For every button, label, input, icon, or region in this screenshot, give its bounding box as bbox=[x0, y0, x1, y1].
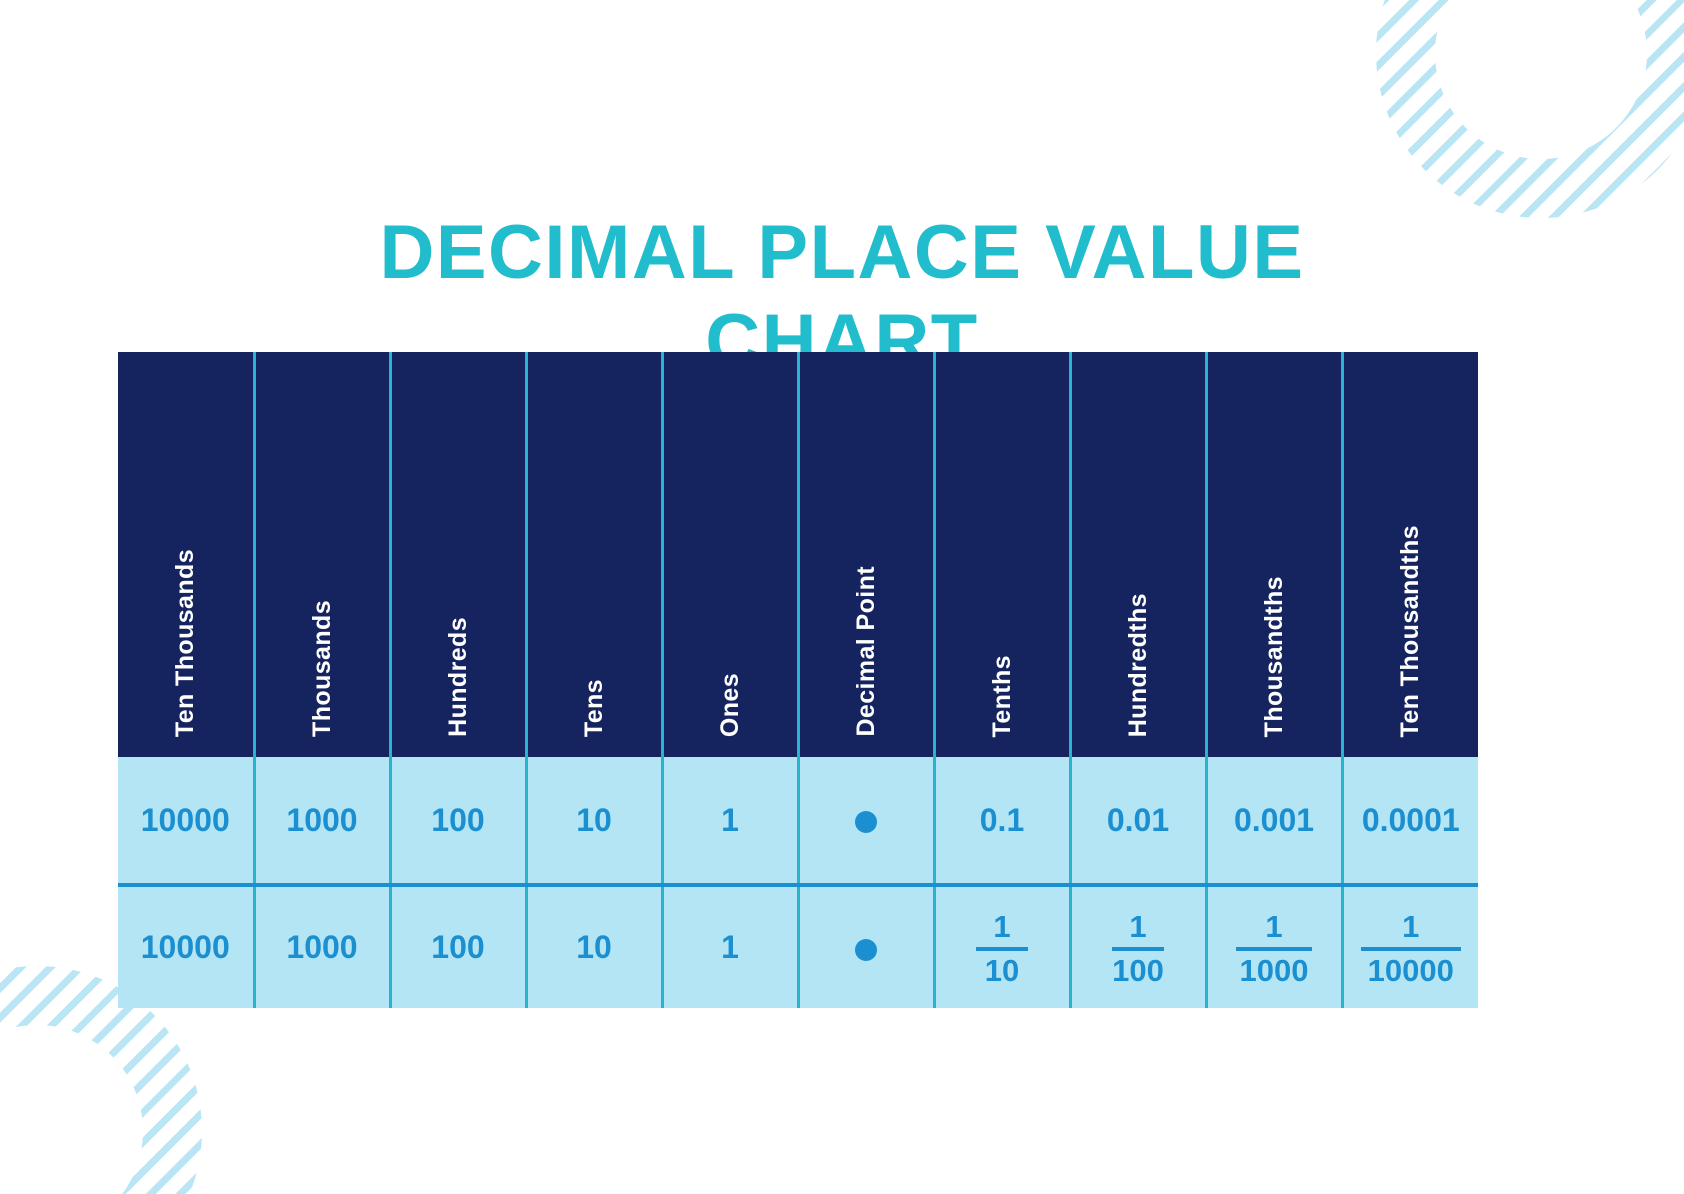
fraction-values-cell-value: 10 bbox=[526, 885, 662, 1008]
column-header-hundredths: Hundredths bbox=[1070, 352, 1206, 757]
fraction-values-cell-decimal-point bbox=[798, 885, 934, 1008]
table-body: 1000010001001010.10.010.0010.0001 100001… bbox=[118, 757, 1478, 1008]
column-header-thousands: Thousands bbox=[254, 352, 390, 757]
cell-value-text: 1 bbox=[721, 929, 739, 966]
cell-value-text: 1000 bbox=[286, 802, 357, 839]
decimal-values-cell-value: 10000 bbox=[118, 757, 254, 885]
column-header-label: Tenths bbox=[988, 655, 1017, 738]
place-value-table: Ten ThousandsThousandsHundredsTensOnesDe… bbox=[118, 352, 1478, 1008]
table-header-row: Ten ThousandsThousandsHundredsTensOnesDe… bbox=[118, 352, 1478, 757]
fraction-values-cell-value: 100 bbox=[390, 885, 526, 1008]
decimal-values-cell-decimal-point bbox=[798, 757, 934, 885]
column-header-label: Hundredths bbox=[1124, 593, 1153, 737]
fraction: 110000 bbox=[1361, 911, 1461, 987]
cell-value-text: 100 bbox=[431, 802, 484, 839]
fraction-denominator: 1000 bbox=[1240, 951, 1309, 988]
column-header-ones: Ones bbox=[662, 352, 798, 757]
column-header-decimal-point: Decimal Point bbox=[798, 352, 934, 757]
cell-value-text: 0.01 bbox=[1107, 802, 1169, 839]
fraction-values-cell-value: 1000 bbox=[254, 885, 390, 1008]
decimal-point-dot-icon bbox=[855, 939, 877, 961]
column-header-tens: Tens bbox=[526, 352, 662, 757]
cell-value-text: 1000 bbox=[286, 929, 357, 966]
column-header-label: Decimal Point bbox=[852, 566, 881, 737]
column-header-inner: Tens bbox=[528, 352, 661, 757]
cell-value-text: 10000 bbox=[141, 929, 230, 966]
column-header-inner: Ones bbox=[664, 352, 797, 757]
table-row-fraction-values: 100001000100101110110011000110000 bbox=[118, 885, 1478, 1008]
table-head: Ten ThousandsThousandsHundredsTensOnesDe… bbox=[118, 352, 1478, 757]
decimal-values-cell-value: 0.1 bbox=[934, 757, 1070, 885]
fraction-values-cell-fraction: 1100 bbox=[1070, 885, 1206, 1008]
decimal-values-cell-value: 1 bbox=[662, 757, 798, 885]
column-header-inner: Ten Thousandths bbox=[1344, 352, 1479, 757]
fraction: 11000 bbox=[1236, 911, 1312, 987]
column-header-label: Ten Thousandths bbox=[1396, 525, 1425, 737]
fraction-values-cell-value: 1 bbox=[662, 885, 798, 1008]
cell-value-text: 0.1 bbox=[980, 802, 1024, 839]
cell-value-text: 0.0001 bbox=[1362, 802, 1460, 839]
column-header-thousandths: Thousandths bbox=[1206, 352, 1342, 757]
cell-value-text: 1 bbox=[721, 802, 739, 839]
decimal-values-cell-value: 100 bbox=[390, 757, 526, 885]
cell-value-text: 100 bbox=[431, 929, 484, 966]
decimal-values-cell-value: 0.001 bbox=[1206, 757, 1342, 885]
decimal-values-cell-value: 0.0001 bbox=[1342, 757, 1478, 885]
fraction-values-cell-fraction: 110 bbox=[934, 885, 1070, 1008]
page-title-line-1: DECIMAL PLACE VALUE bbox=[379, 210, 1304, 295]
column-header-label: Ten Thousands bbox=[171, 549, 200, 737]
fraction: 1100 bbox=[1112, 911, 1164, 987]
fraction-values-cell-value: 10000 bbox=[118, 885, 254, 1008]
place-value-table-wrapper: Ten ThousandsThousandsHundredsTensOnesDe… bbox=[118, 352, 1478, 1008]
fraction-values-cell-fraction: 11000 bbox=[1206, 885, 1342, 1008]
fraction-values-cell-fraction: 110000 bbox=[1342, 885, 1478, 1008]
fraction: 110 bbox=[976, 911, 1028, 987]
fraction-denominator: 100 bbox=[1112, 951, 1164, 988]
fraction-numerator: 1 bbox=[1402, 911, 1419, 947]
column-header-tenths: Tenths bbox=[934, 352, 1070, 757]
decimal-point-dot-icon bbox=[855, 811, 877, 833]
column-header-inner: Decimal Point bbox=[800, 352, 933, 757]
column-header-label: Hundreds bbox=[444, 617, 473, 737]
column-header-inner: Thousands bbox=[256, 352, 389, 757]
column-header-ten-thousandths: Ten Thousandths bbox=[1342, 352, 1478, 757]
column-header-label: Thousands bbox=[308, 600, 337, 737]
column-header-label: Tens bbox=[580, 679, 609, 737]
column-header-inner: Tenths bbox=[936, 352, 1069, 757]
cell-value-text: 10 bbox=[576, 802, 612, 839]
table-row-decimal-values: 1000010001001010.10.010.0010.0001 bbox=[118, 757, 1478, 885]
cell-value-text: 10000 bbox=[141, 802, 230, 839]
fraction-denominator: 10000 bbox=[1368, 951, 1454, 988]
column-header-inner: Thousandths bbox=[1208, 352, 1341, 757]
decimal-values-cell-value: 1000 bbox=[254, 757, 390, 885]
column-header-inner: Ten Thousands bbox=[118, 352, 253, 757]
decimal-values-cell-value: 10 bbox=[526, 757, 662, 885]
column-header-inner: Hundredths bbox=[1072, 352, 1205, 757]
fraction-denominator: 10 bbox=[985, 951, 1019, 988]
cell-value-text: 10 bbox=[576, 929, 612, 966]
column-header-label: Thousandths bbox=[1260, 576, 1289, 737]
fraction-numerator: 1 bbox=[1129, 911, 1146, 947]
column-header-label: Ones bbox=[716, 673, 745, 737]
column-header-inner: Hundreds bbox=[392, 352, 525, 757]
fraction-numerator: 1 bbox=[1265, 911, 1282, 947]
cell-value-text: 0.001 bbox=[1234, 802, 1314, 839]
column-header-ten-thousands: Ten Thousands bbox=[118, 352, 254, 757]
decimal-values-cell-value: 0.01 bbox=[1070, 757, 1206, 885]
fraction-numerator: 1 bbox=[993, 911, 1010, 947]
column-header-hundreds: Hundreds bbox=[390, 352, 526, 757]
